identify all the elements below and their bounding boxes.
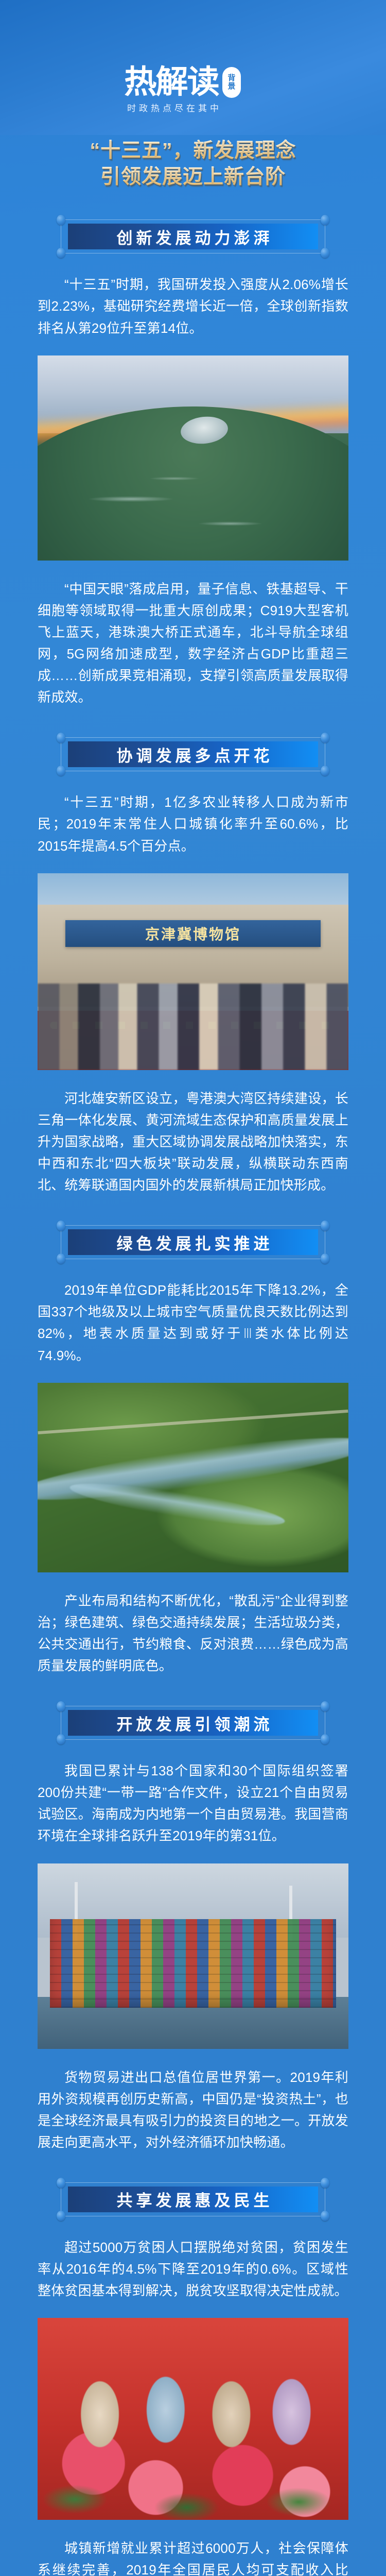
brand-badge: 背 景 [222,67,241,98]
corner-dot-icon [321,215,329,225]
brand-badge-line1: 背 [228,74,236,82]
section-photo-celebration [38,2318,348,2520]
banner-plate: 绿色发展扎实推进 [68,1229,318,1255]
brand-subtitle: 时政热点尽在其中 [127,101,222,114]
banner-plate: 协调发展多点开花 [68,741,318,767]
section-paragraph: 城镇新增就业累计超过6000万人，社会保障体系继续完善，2019年全国居民人均可… [38,2537,348,2576]
corner-dot-icon [321,733,329,743]
section-banner-coordinated: 协调发展多点开花 [57,735,329,774]
page-title: “十三五”，新发展理念 引领发展迈上新台阶 [0,135,386,190]
section-paragraph: “十三五”时期，我国研发投入强度从2.06%增长到2.23%，基础研究经费增长近… [38,274,348,338]
section-banner-label: 协调发展多点开花 [113,743,273,766]
corner-dot-icon [57,248,65,258]
section-paragraph: 产业布局和结构不断优化，“散乱污”企业得到整治；绿色建筑、绿色交通持续发展；生活… [38,1590,348,1676]
section-banner-label: 创新发展动力澎湃 [113,225,273,248]
brand-badge-line2: 景 [228,82,236,91]
photo-people [56,2346,330,2460]
photo-crowd [38,984,348,1070]
section-photo-museum: 京津冀博物馆 [38,873,348,1070]
section-banner-opening: 开放发展引领潮流 [57,1703,329,1742]
corner-dot-icon [321,2178,329,2188]
section-banner-label: 共享发展惠及民生 [113,2188,273,2211]
page-title-line2: 引领发展迈上新台阶 [0,164,386,191]
photo-foliage [38,2451,348,2520]
section-paragraph: 2019年单位GDP能耗比2015年下降13.2%，全国337个地级及以上城市空… [38,1279,348,1366]
corner-dot-icon [57,1253,65,1264]
banner-plate: 共享发展惠及民生 [68,2187,318,2212]
photo-museum-sign: 京津冀博物馆 [65,920,320,947]
section-photo-container-port [38,1863,348,2049]
banner-plate: 开放发展引领潮流 [68,1710,318,1736]
corner-dot-icon [57,1701,65,1711]
corner-dot-icon [57,766,65,776]
section-paragraph: 货物贸易进出口总值位居世界第一。2019年利用外资规模再创历史新高，中国仍是“投… [38,2066,348,2153]
corner-dot-icon [57,2211,65,2221]
section-paragraph: 河北雄安新区设立，粤港澳大湾区持续建设，长三角一体化发展、黄河流域生态保护和高质… [38,1088,348,1196]
banner-plate: 创新发展动力澎湃 [68,224,318,249]
brand-logo: 热解读 背 景 [125,66,241,98]
photo-container-stacks [50,1919,336,2008]
section-photo-fast-telescope [38,355,348,561]
photo-rivers [38,355,348,561]
section-banner-shared: 共享发展惠及民生 [57,2180,329,2219]
corner-dot-icon [321,1701,329,1711]
section-paragraph: “中国天眼”落成启用，量子信息、铁基超导、干细胞等领域取得一批重大原创成果；C9… [38,578,348,708]
infographic-page: 热解读 背 景 时政热点尽在其中 “十三五”，新发展理念 引领发展迈上新台阶 创… [0,0,386,2576]
page-title-line1: “十三五”，新发展理念 [0,138,386,164]
section-paragraph: “十三五”时期，1亿多农业转移人口成为新市民；2019年末常住人口城镇化率升至6… [38,791,348,856]
corner-dot-icon [321,1253,329,1264]
corner-dot-icon [57,2178,65,2188]
section-banner-innovation: 创新发展动力澎湃 [57,217,329,256]
brand-logo-text: 热解读 [124,66,219,98]
corner-dot-icon [321,2211,329,2221]
corner-dot-icon [321,248,329,258]
section-banner-green: 绿色发展扎实推进 [57,1223,329,1262]
section-banner-label: 开放发展引领潮流 [113,1711,273,1735]
section-photo-green-aerial [38,1383,348,1572]
corner-dot-icon [321,766,329,776]
section-paragraph: 我国已累计与138个国家和30个国际组织签署200份共建“一带一路”合作文件，设… [38,1760,348,1846]
corner-dot-icon [321,1734,329,1744]
section-banner-label: 绿色发展扎实推进 [113,1231,273,1254]
section-paragraph: 超过5000万贫困人口摆脱绝对贫困，贫困发生率从2016年的4.5%下降至201… [38,2236,348,2301]
hero-header: 热解读 背 景 时政热点尽在其中 [0,0,386,135]
corner-dot-icon [57,1734,65,1744]
corner-dot-icon [321,1221,329,1231]
